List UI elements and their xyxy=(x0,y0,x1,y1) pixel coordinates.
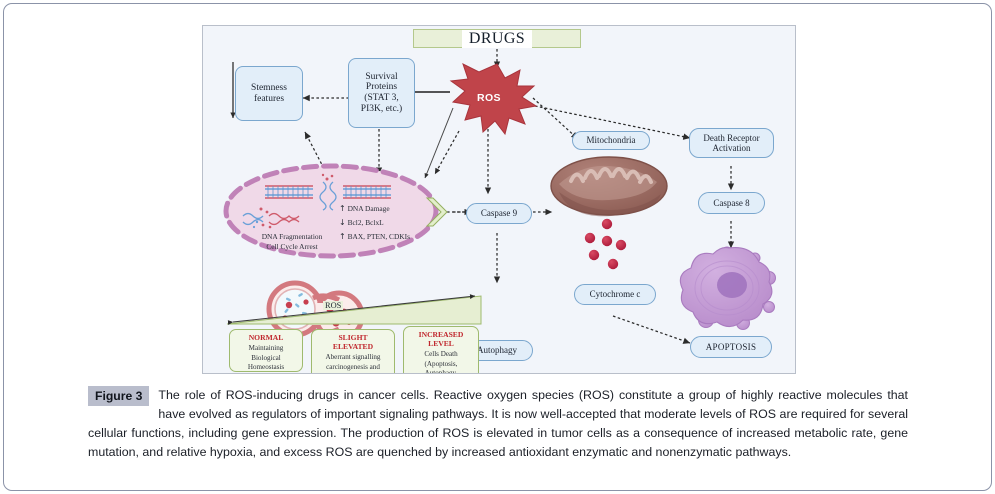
node-caspase-8[interactable]: Caspase 8 xyxy=(698,192,765,214)
drugs-label: DRUGS xyxy=(462,30,532,48)
increased-body-3: Autophagy, xyxy=(406,369,476,374)
ros-label: ROS xyxy=(477,92,501,104)
up-arrow-icon-2: ↑ xyxy=(339,232,346,241)
ros-gradient-label: ROS xyxy=(323,301,343,310)
dna-damage-row: ↑ DNA Damage xyxy=(339,203,390,215)
drugs-banner: DRUGS xyxy=(413,29,581,48)
apoptotic-cell-shape xyxy=(680,247,775,330)
slight-body-1: Aberrant signalling xyxy=(314,353,392,362)
node-death-receptor-activation[interactable]: Death Receptor Activation xyxy=(689,128,774,158)
death-receptor-line-1: Death Receptor xyxy=(703,133,759,143)
dna-fragmentation-label: DNA Fragmentation Cell Cycle Arrest xyxy=(237,232,347,252)
mitochondria-label: Mitochondria xyxy=(587,135,636,145)
dna-damage-label: DNA Damage xyxy=(348,204,390,213)
down-arrow-icon: ↓ xyxy=(339,218,346,227)
node-survival-proteins[interactable]: Survival Proteins (STAT 3, PI3K, etc.) xyxy=(348,58,415,128)
caspase-8-label: Caspase 8 xyxy=(713,198,749,208)
survival-line-3: (STAT 3, xyxy=(364,93,398,104)
diagram-panel: DRUGS ROS Stemness features Survival Pro… xyxy=(202,25,796,374)
level-card-normal[interactable]: NORMAL Maintaining Biological Homeostasi… xyxy=(229,329,303,372)
node-mitochondria[interactable]: Mitochondria xyxy=(572,131,650,150)
figure-number-badge: Figure 3 xyxy=(88,386,149,406)
stemness-line-1: Stemness xyxy=(251,83,287,94)
node-caspase-9[interactable]: Caspase 9 xyxy=(466,203,532,224)
increased-title: INCREASED LEVEL xyxy=(406,331,476,349)
node-apoptosis[interactable]: APOPTOSIS xyxy=(690,336,772,358)
bax-label: BAX, PTEN, CDKIs xyxy=(348,232,410,241)
stemness-line-2: features xyxy=(254,94,284,105)
survival-line-2: Proteins xyxy=(366,82,397,93)
cytochrome-c-label: Cytochrome c xyxy=(590,289,641,299)
caspase-9-label: Caspase 9 xyxy=(481,208,517,218)
cytochrome-c-particles xyxy=(585,219,626,269)
slight-body-3: drug resistance xyxy=(314,372,392,374)
bcl2-row: ↓ Bcl2, BclxL xyxy=(339,217,384,229)
survival-line-4: PI3K, etc.) xyxy=(361,104,402,115)
apoptosis-label: APOPTOSIS xyxy=(706,342,757,352)
node-cytochrome-c[interactable]: Cytochrome c xyxy=(574,284,656,305)
figure-caption: Figure 3 The role of ROS-inducing drugs … xyxy=(88,386,908,461)
autophagy-label: Autophagy xyxy=(477,345,517,355)
slight-title: SLIGHT ELEVATED xyxy=(314,334,392,352)
node-stemness-features[interactable]: Stemness features xyxy=(235,66,303,121)
increased-title-1: INCREASED xyxy=(419,330,464,339)
increased-title-2: LEVEL xyxy=(428,339,454,348)
figure-page: DRUGS ROS Stemness features Survival Pro… xyxy=(0,0,995,494)
slight-body-2: carcinogenesis and xyxy=(314,363,392,372)
frag-line-2: Cell Cycle Arrest xyxy=(266,242,317,251)
up-arrow-icon: ↑ xyxy=(339,204,346,213)
survival-line-1: Survival xyxy=(365,72,397,83)
mitochondria-shape xyxy=(551,157,667,216)
slight-title-1: SLIGHT xyxy=(338,333,367,342)
bax-row: ↑ BAX, PTEN, CDKIs xyxy=(339,231,410,243)
level-card-slight-elevated[interactable]: SLIGHT ELEVATED Aberrant signalling carc… xyxy=(311,329,395,374)
death-receptor-line-2: Activation xyxy=(713,143,751,153)
increased-body-1: Cells Death xyxy=(406,350,476,359)
increased-body-2: (Apoptosis, xyxy=(406,360,476,369)
normal-title: NORMAL xyxy=(232,334,300,343)
normal-body-3: Homeostasis xyxy=(232,363,300,372)
normal-body-1: Maintaining xyxy=(232,344,300,353)
normal-body-2: Biological xyxy=(232,354,300,363)
caption-text: The role of ROS-inducing drugs in cancer… xyxy=(88,386,908,461)
level-card-increased-level[interactable]: INCREASED LEVEL Cells Death (Apoptosis, … xyxy=(403,326,479,374)
slight-title-2: ELEVATED xyxy=(333,342,373,351)
bcl2-label: Bcl2, BclxL xyxy=(348,218,384,227)
frag-line-1: DNA Fragmentation xyxy=(262,232,323,241)
